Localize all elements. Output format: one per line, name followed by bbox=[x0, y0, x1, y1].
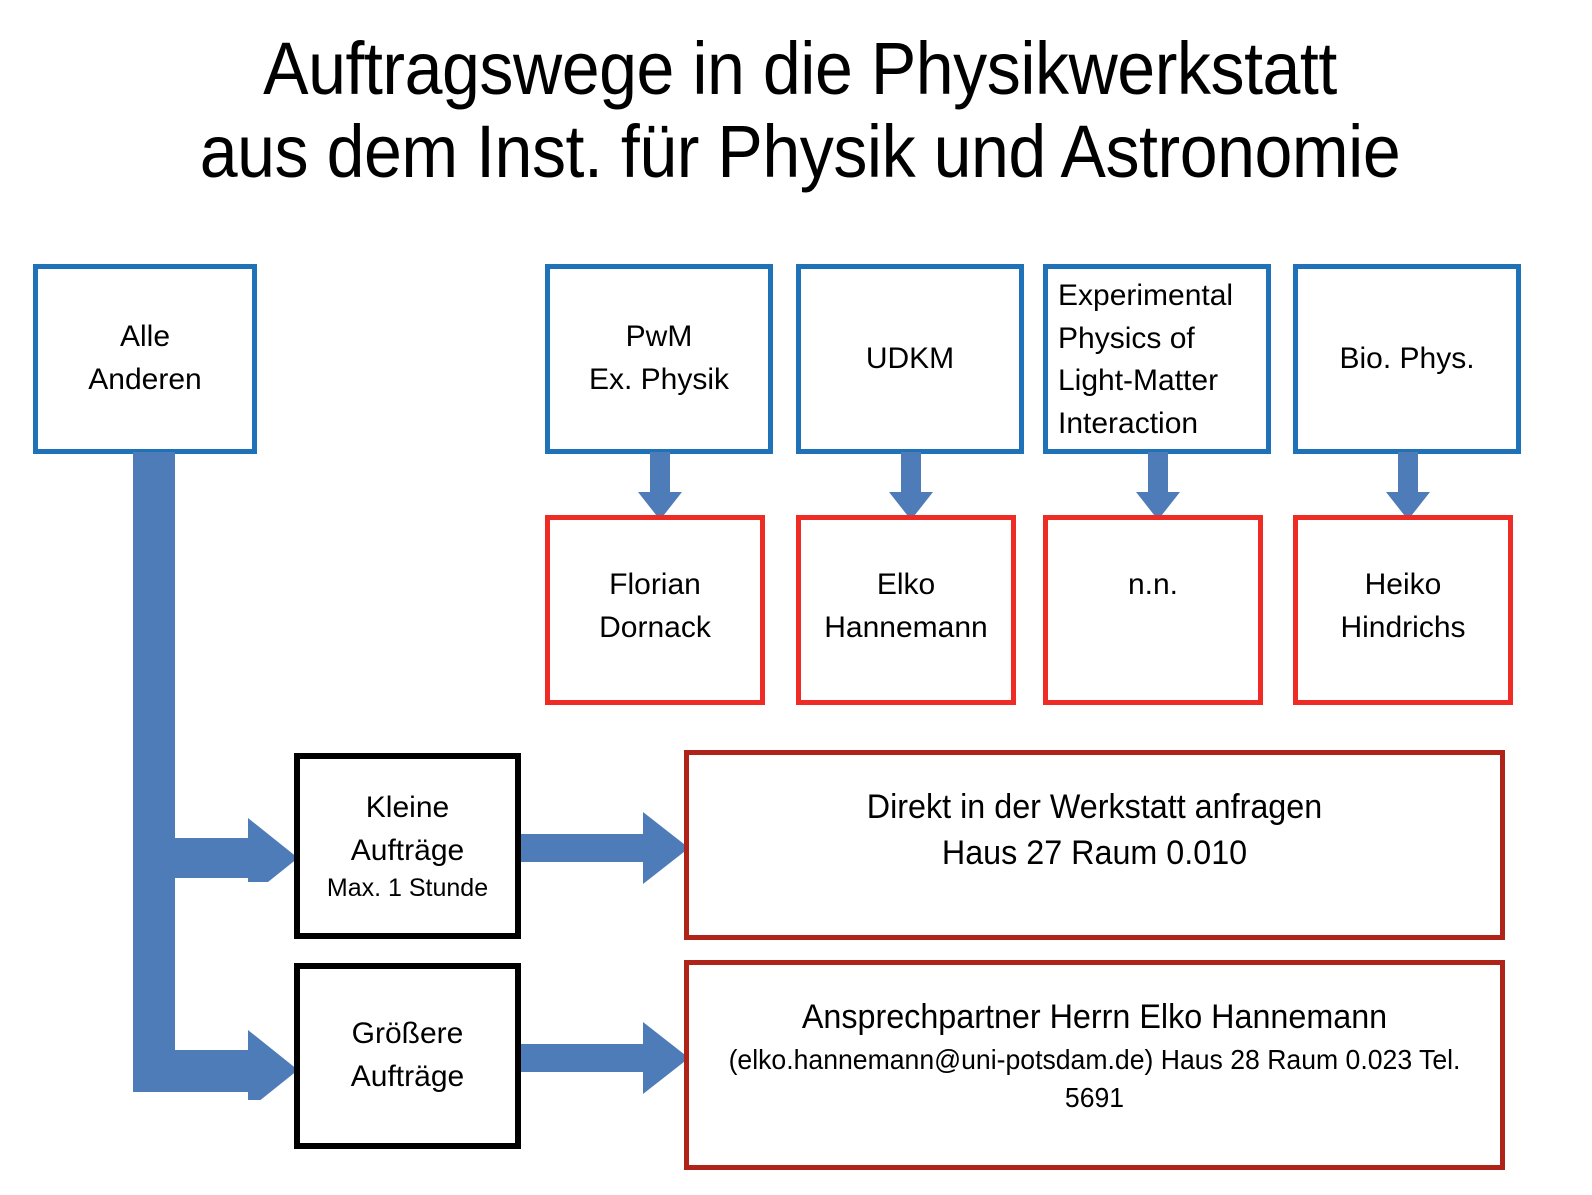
source-label-bio-phys: Bio. Phys. bbox=[1298, 338, 1516, 381]
contact-box-heiko-hindrichs[interactable]: Heiko Hindrichs bbox=[1293, 515, 1513, 705]
source-box-udkm[interactable]: UDKM bbox=[796, 264, 1024, 454]
order-type-sub-kleine: Max. 1 Stunde bbox=[300, 872, 515, 905]
slide-canvas: Auftragswege in die Physikwerkstatt aus … bbox=[0, 0, 1592, 1195]
info-line1-werkstatt-direkt: Direkt in der Werkstatt anfragen bbox=[709, 785, 1479, 831]
contact-label-elko-hannemann: Elko Hannemann bbox=[801, 564, 1011, 649]
source-label-light-matter-interaction: Experimental Physics of Light-Matter Int… bbox=[1048, 275, 1266, 445]
order-type-box-kleine-auftraege[interactable]: Kleine AufträgeMax. 1 Stunde bbox=[294, 753, 521, 939]
info-line2-ansprechpartner: (elko.hannemann@uni-potsdam.de) Haus 28 … bbox=[709, 1041, 1479, 1117]
arrow-alle-anderen-to-groessere bbox=[133, 860, 298, 1100]
contact-box-nn[interactable]: n.n. bbox=[1043, 515, 1263, 705]
info-label-ansprechpartner: Ansprechpartner Herrn Elko Hannemann(elk… bbox=[689, 995, 1500, 1116]
source-box-bio-phys[interactable]: Bio. Phys. bbox=[1293, 264, 1521, 454]
arrow-biophys-to-heiko bbox=[1386, 452, 1430, 520]
order-type-label-groessere-auftraege: Größere Aufträge bbox=[300, 1013, 515, 1098]
info-line1-ansprechpartner: Ansprechpartner Herrn Elko Hannemann bbox=[709, 995, 1479, 1041]
info-box-werkstatt-direkt[interactable]: Direkt in der Werkstatt anfragenHaus 27 … bbox=[684, 750, 1505, 940]
arrow-kleine-to-werkstatt bbox=[521, 812, 689, 884]
order-type-main-kleine: Kleine Aufträge bbox=[351, 791, 464, 867]
arrow-lightmatter-to-nn bbox=[1136, 452, 1180, 520]
order-type-main-groessere: Größere Aufträge bbox=[351, 1017, 464, 1093]
contact-label-heiko-hindrichs: Heiko Hindrichs bbox=[1298, 564, 1508, 649]
info-label-werkstatt-direkt: Direkt in der Werkstatt anfragenHaus 27 … bbox=[689, 785, 1500, 877]
order-type-label-kleine-auftraege: Kleine AufträgeMax. 1 Stunde bbox=[300, 787, 515, 905]
arrow-udkm-to-elko bbox=[889, 452, 933, 520]
source-label-pwm: PwM Ex. Physik bbox=[550, 316, 768, 401]
contact-box-florian-dornack[interactable]: Florian Dornack bbox=[545, 515, 765, 705]
order-type-box-groessere-auftraege[interactable]: Größere Aufträge bbox=[294, 963, 521, 1149]
contact-label-nn: n.n. bbox=[1048, 564, 1258, 607]
page-title: Auftragswege in die Physikwerkstatt aus … bbox=[119, 28, 1481, 194]
source-box-pwm[interactable]: PwM Ex. Physik bbox=[545, 264, 773, 454]
arrow-alle-anderen-to-kleine bbox=[133, 452, 298, 882]
info-line2-werkstatt-direkt: Haus 27 Raum 0.010 bbox=[709, 831, 1479, 877]
info-box-ansprechpartner[interactable]: Ansprechpartner Herrn Elko Hannemann(elk… bbox=[684, 960, 1505, 1170]
source-box-light-matter-interaction[interactable]: Experimental Physics of Light-Matter Int… bbox=[1043, 264, 1271, 454]
source-label-alle-anderen: Alle Anderen bbox=[38, 316, 252, 401]
arrow-groessere-to-ansprechpartner bbox=[521, 1022, 689, 1094]
contact-label-florian-dornack: Florian Dornack bbox=[550, 564, 760, 649]
arrow-pwm-to-florian bbox=[638, 452, 682, 520]
contact-box-elko-hannemann[interactable]: Elko Hannemann bbox=[796, 515, 1016, 705]
source-label-udkm: UDKM bbox=[801, 338, 1019, 381]
source-box-alle-anderen[interactable]: Alle Anderen bbox=[33, 264, 257, 454]
